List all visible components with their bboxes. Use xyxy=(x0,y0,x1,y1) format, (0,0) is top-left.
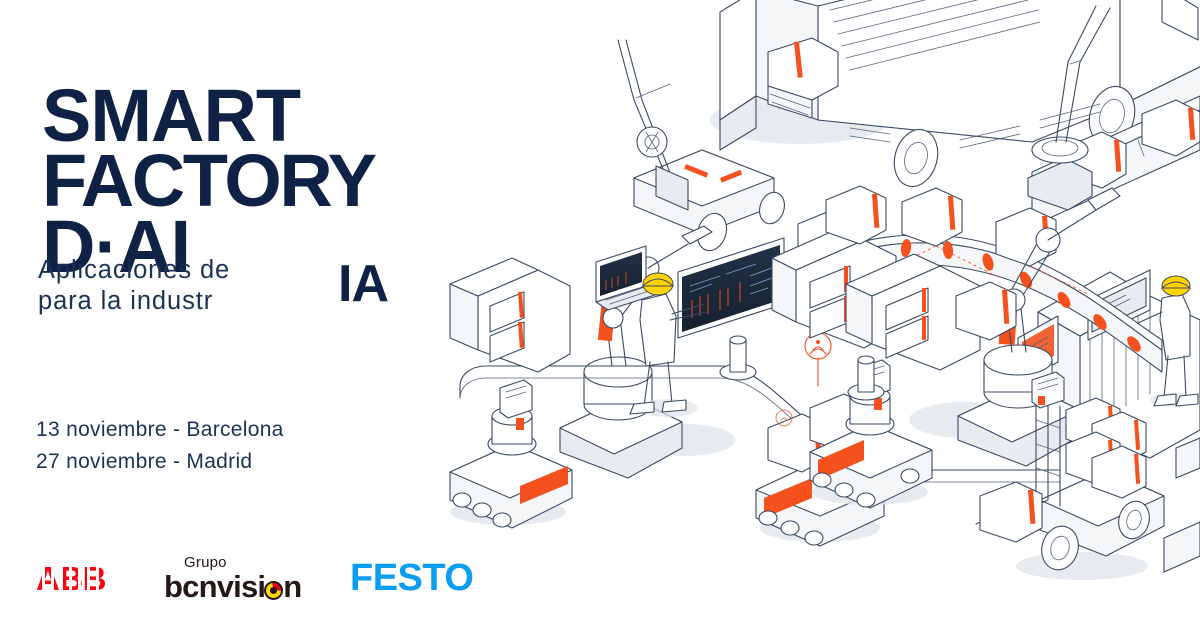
subtitle-line-2: para la industr xyxy=(38,286,230,317)
logo-bcnvision-text-a: bcnvisi xyxy=(164,571,265,602)
sponsor-logos: ABB Grupo bcnvisi n FESTO xyxy=(36,552,474,604)
boxes-bottom-right xyxy=(1164,438,1200,572)
logo-festo[interactable]: FESTO xyxy=(350,559,474,597)
event-date-madrid: 27 noviembre - Madrid xyxy=(36,446,284,478)
logo-bcnvision-grupo: Grupo xyxy=(184,555,316,570)
camera-iris-icon xyxy=(264,581,283,600)
factory-illustration: .ln{fill:none;stroke:#3b4a63;stroke-widt… xyxy=(420,0,1200,627)
logo-abb[interactable]: ABB xyxy=(36,563,130,594)
subtitle-ia-badge: IA xyxy=(338,258,388,310)
wifi-sensor-icon xyxy=(805,333,831,386)
subtitle-block: Aplicaciones de para la industr IA xyxy=(38,255,438,325)
logo-bcnvision-wordmark: bcnvisi n xyxy=(164,571,316,602)
event-date-barcelona: 13 noviembre - Barcelona xyxy=(36,414,284,446)
event-dates: 13 noviembre - Barcelona 27 noviembre - … xyxy=(36,414,284,478)
poster-canvas: .ln{fill:none;stroke:#3b4a63;stroke-widt… xyxy=(0,0,1200,627)
logo-bcnvision-text-b: n xyxy=(283,571,301,602)
logo-bcnvision[interactable]: Grupo bcnvisi n xyxy=(164,555,316,601)
page-title: SMART FACTORY D·AI xyxy=(42,83,375,279)
headline-line-2: FACTORY xyxy=(42,148,375,213)
logo-abb-text: ABB xyxy=(36,563,130,594)
subtitle-text: Aplicaciones de para la industr xyxy=(38,255,230,317)
left-text-panel: SMART FACTORY D·AI Aplicaciones de para … xyxy=(0,0,470,627)
subtitle-line-1: Aplicaciones de xyxy=(38,255,230,286)
